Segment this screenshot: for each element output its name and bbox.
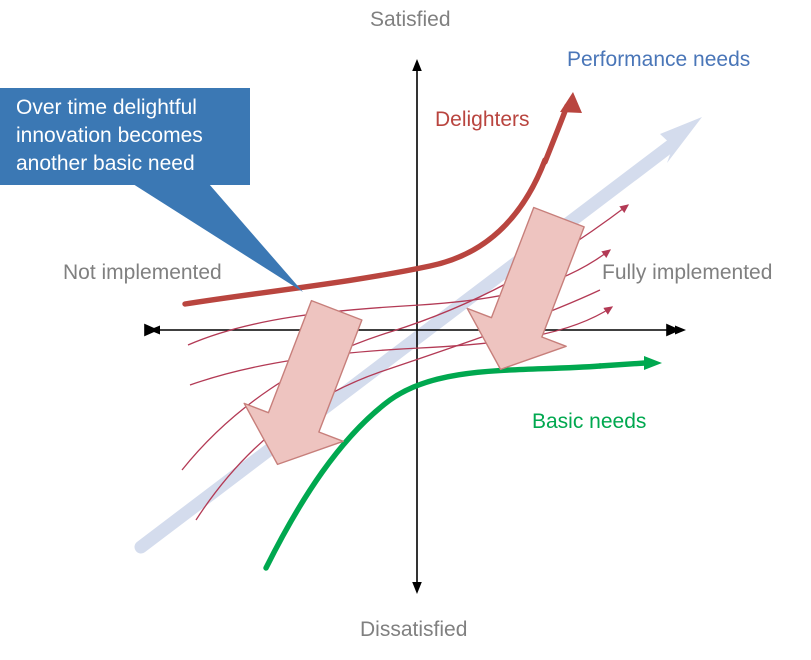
kano-model-diagram: Over time delightful innovation becomes …	[0, 0, 811, 660]
series-label-performance-needs: Performance needs	[567, 48, 750, 72]
axis-vertical	[412, 59, 422, 594]
axis-label-satisfied: Satisfied	[370, 8, 451, 32]
axis-label-fully-implemented: Fully implemented	[602, 261, 772, 285]
callout-box: Over time delightful innovation becomes …	[0, 88, 250, 185]
axis-label-dissatisfied: Dissatisfied	[360, 618, 467, 642]
axis-label-not-implemented: Not implemented	[63, 261, 222, 285]
series-label-delighters: Delighters	[435, 108, 530, 132]
callout-text: Over time delightful innovation becomes …	[16, 94, 240, 178]
series-label-basic-needs: Basic needs	[532, 410, 646, 434]
